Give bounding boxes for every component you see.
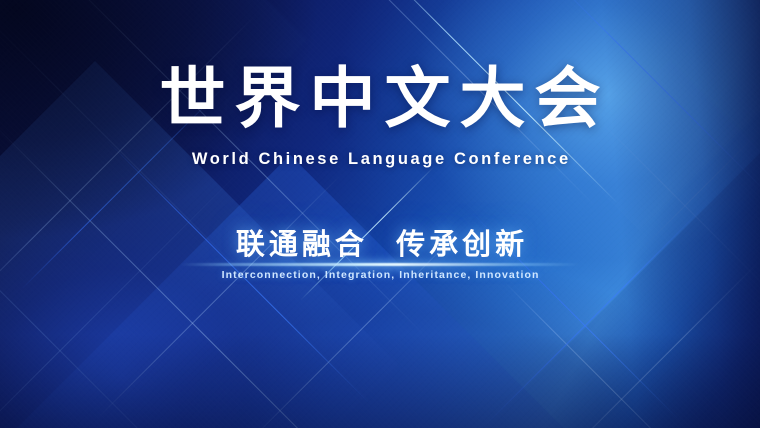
tagline-english: Interconnection, Integration, Inheritanc…	[221, 269, 540, 281]
light-streak	[180, 263, 580, 266]
tagline-block: 联通融合 传承创新 Interconnection, Integration, …	[221, 229, 540, 281]
page-title-chinese: 世界中文大会	[151, 66, 610, 132]
poster-content: 世界中文大会 World Chinese Language Conference…	[0, 0, 760, 428]
tagline-chinese: 联通融合 传承创新	[232, 229, 528, 261]
page-subtitle-english: World Chinese Language Conference	[189, 150, 570, 169]
conference-poster: 世界中文大会 World Chinese Language Conference…	[0, 0, 760, 428]
